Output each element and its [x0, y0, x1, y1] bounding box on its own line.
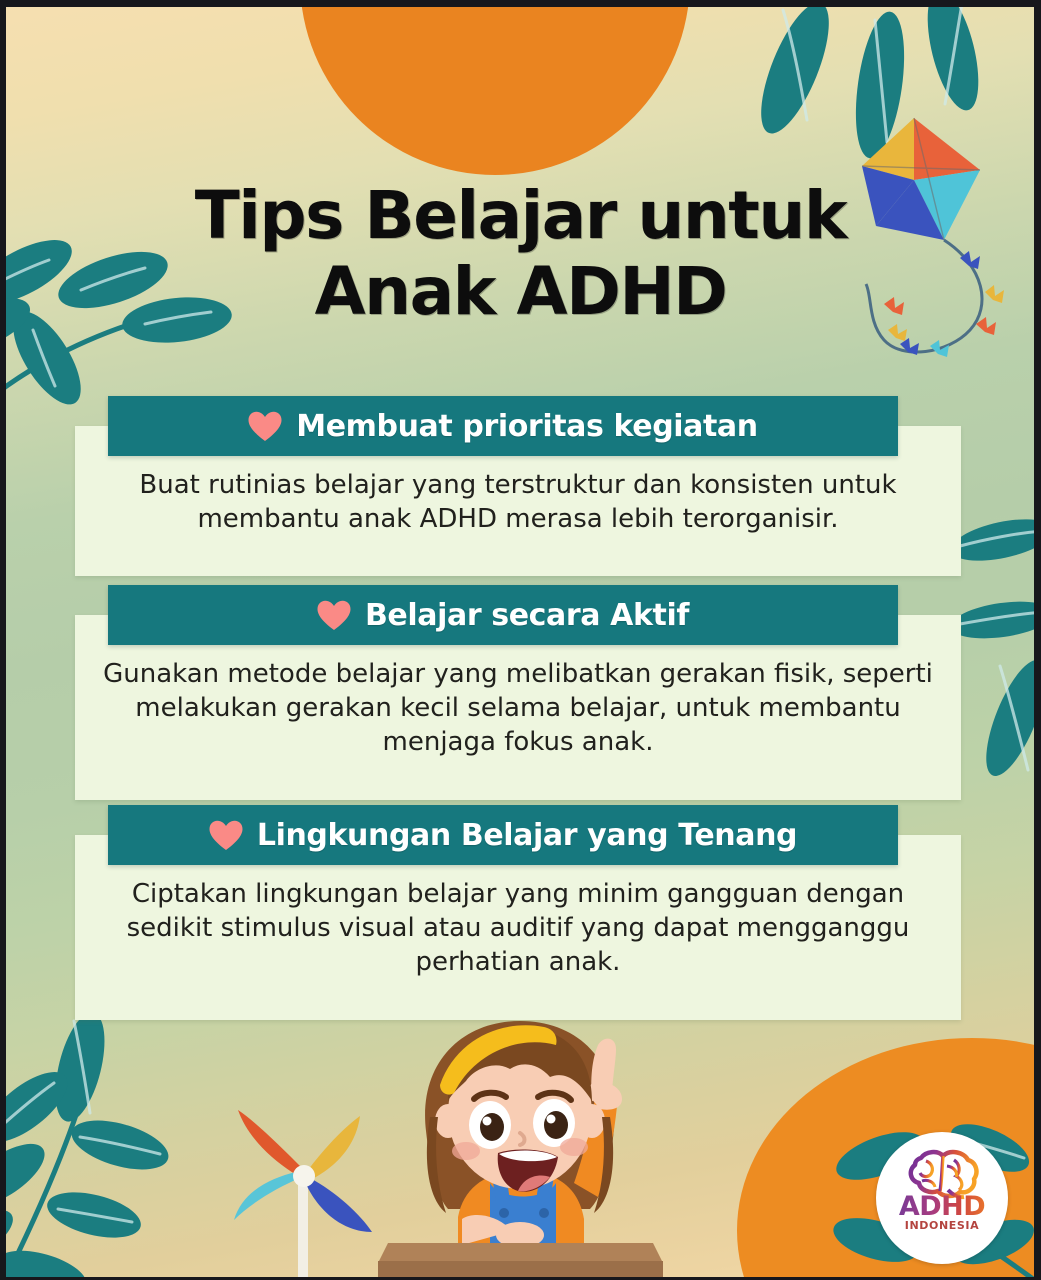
logo-subtitle: INDONESIA: [905, 1219, 979, 1232]
frame-bar-left: [0, 0, 6, 1280]
tip-card-1-header: Membuat prioritas kegiatan: [108, 396, 898, 456]
tip-card-3-header: Lingkungan Belajar yang Tenang: [108, 805, 898, 865]
frame-bar-right: [1034, 0, 1041, 1280]
logo-badge[interactable]: ADHD INDONESIA: [876, 1132, 1008, 1264]
heart-icon: [317, 600, 351, 631]
heart-icon: [248, 411, 282, 442]
poster-canvas: Tips Belajar untuk Anak ADHD Buat rutini…: [0, 0, 1041, 1280]
heart-icon: [209, 820, 243, 851]
tips-card-list: Buat rutinias belajar yang terstruktur d…: [0, 0, 1041, 1280]
tip-card-1-title: Membuat prioritas kegiatan: [296, 409, 758, 444]
logo-name: ADHD: [899, 1194, 985, 1220]
tip-card-2-title: Belajar secara Aktif: [365, 598, 689, 633]
tip-card-3-title: Lingkungan Belajar yang Tenang: [257, 818, 797, 853]
frame-bar-top: [0, 0, 1041, 7]
tip-card-2-header: Belajar secara Aktif: [108, 585, 898, 645]
